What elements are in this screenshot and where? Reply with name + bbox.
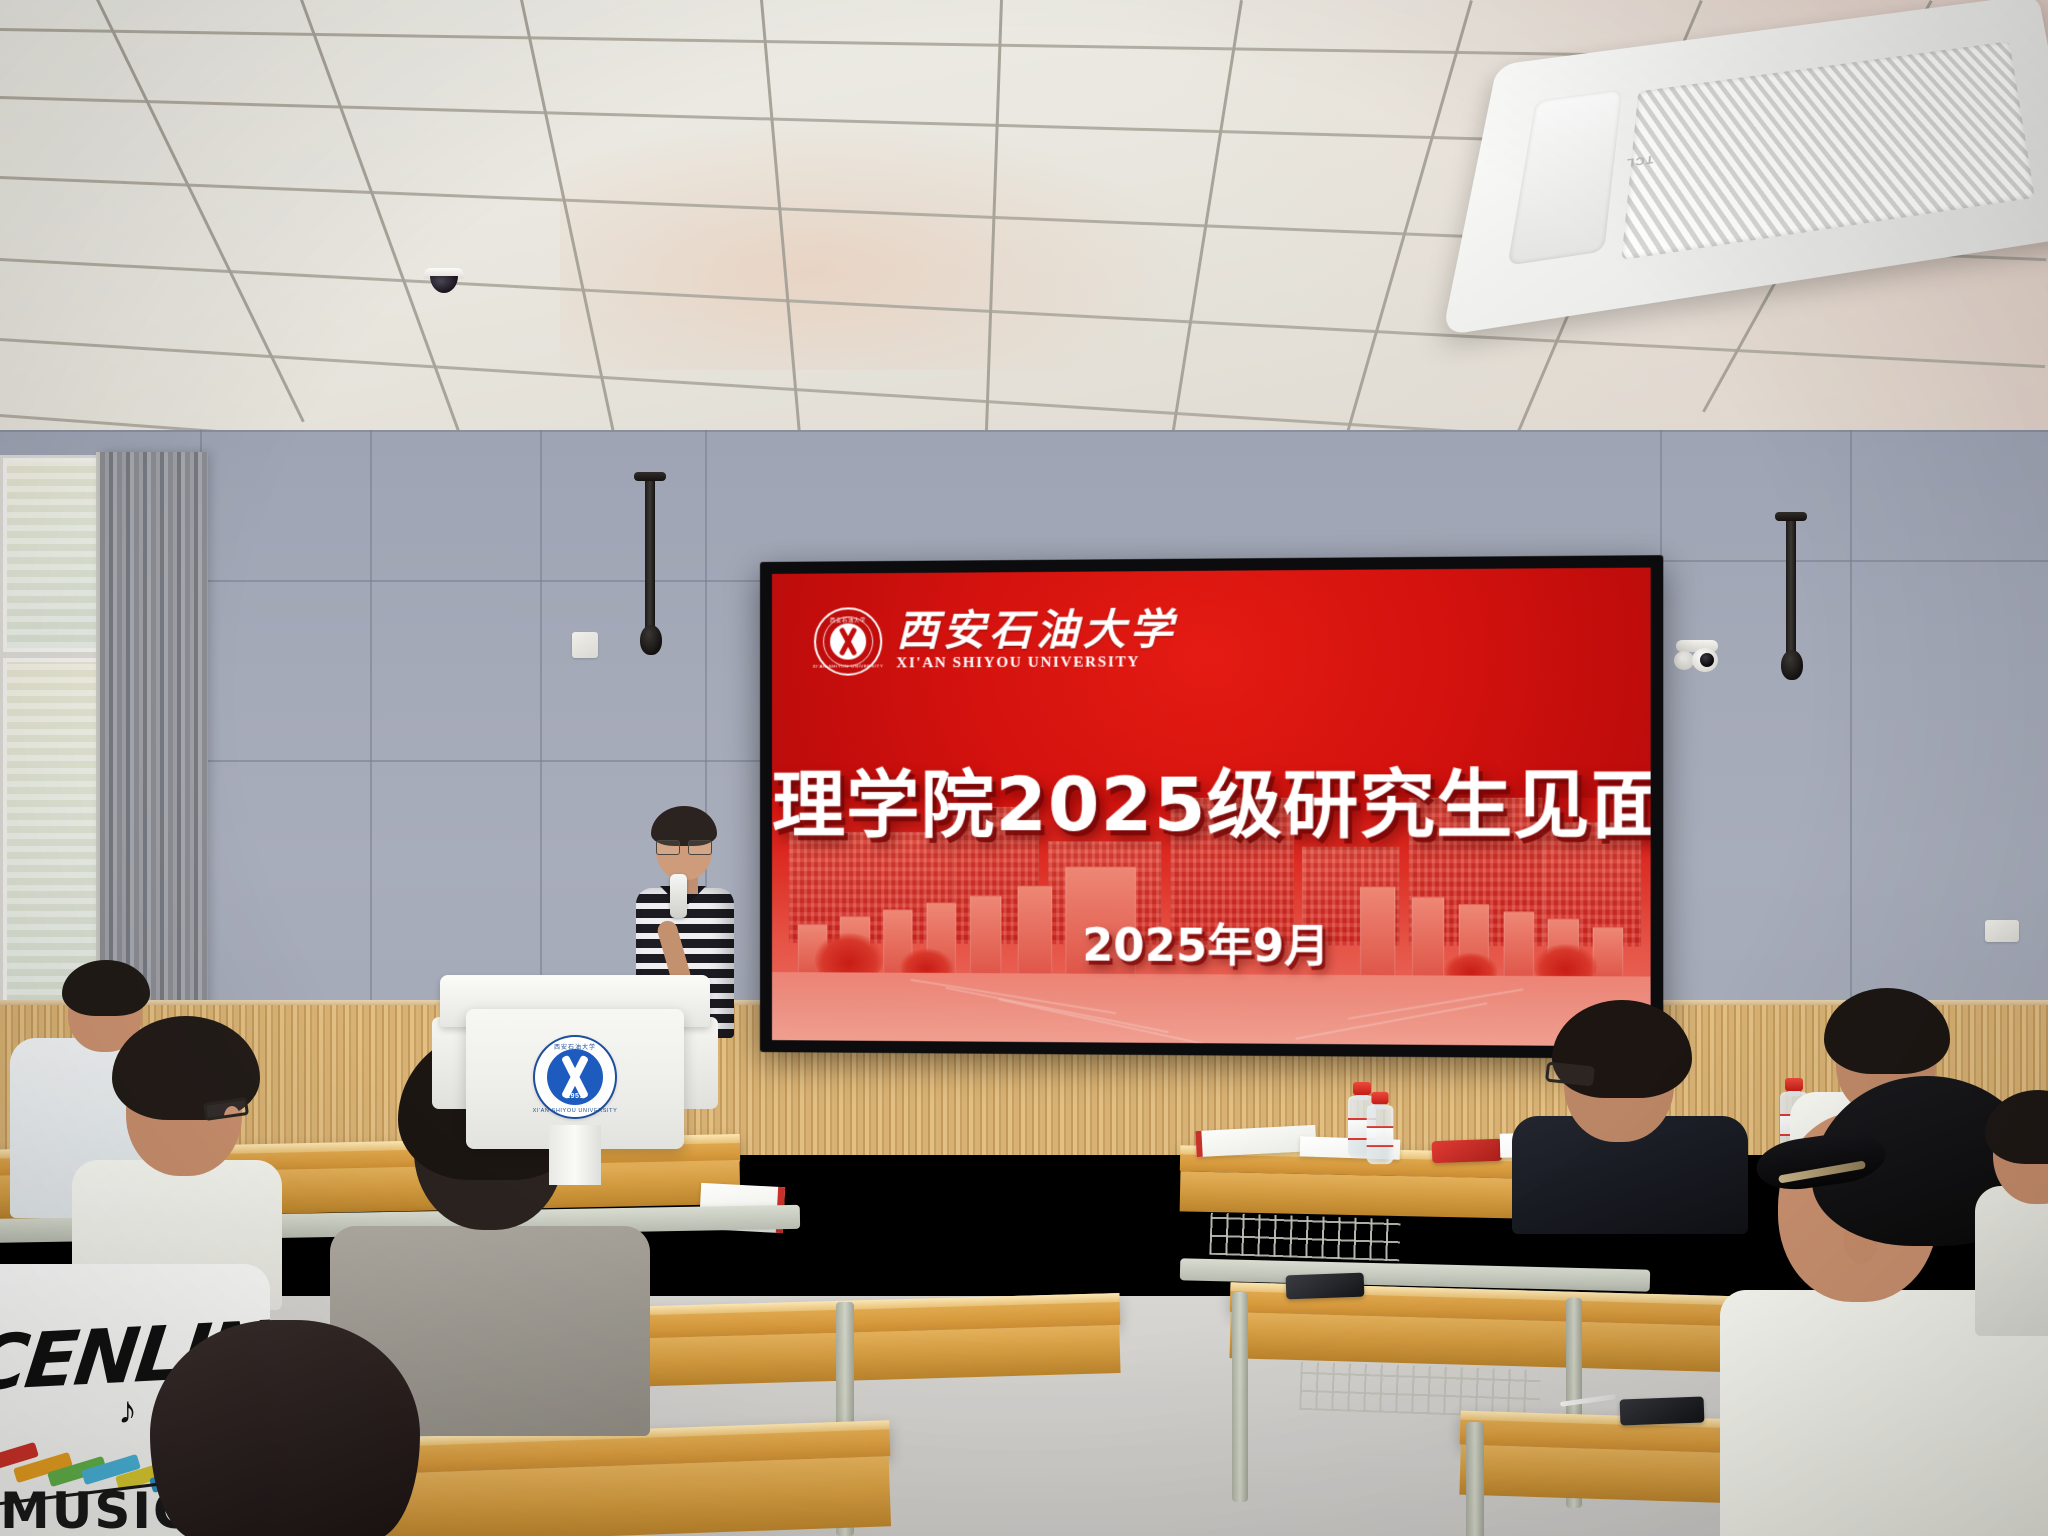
wall-panel-seam: [1850, 430, 1852, 1010]
attendee-body: [1975, 1186, 2048, 1336]
camera-lens: [1700, 653, 1714, 667]
slide-university-logo: 西安石油大学 XI'AN SHIYOU UNIVERSITY 西安石油大学 XI…: [814, 605, 1177, 675]
desk-leg: [1232, 1292, 1248, 1502]
ceiling-runner: [96, 0, 305, 422]
slide-plaza-marking: [911, 979, 1117, 1015]
slide-plaza-marking: [1295, 1002, 1487, 1039]
smartphone[interactable]: [1432, 1139, 1503, 1163]
ceiling-glow: [560, 120, 1180, 370]
podium-seal-disc: 1951: [547, 1049, 603, 1105]
slide-date: 2025年9月: [772, 908, 1651, 977]
attendee-hair: [150, 1320, 420, 1536]
smartphone[interactable]: [1286, 1273, 1365, 1300]
attendee-dark-jacket: [1512, 1000, 1752, 1230]
window-glass: [7, 662, 99, 1008]
microphone-icon[interactable]: [670, 874, 687, 918]
wall-outlet-plate[interactable]: [1985, 920, 2019, 942]
slide-title: 理学院2025级研究生见面会: [772, 744, 1651, 853]
led-display-bezel: 西安石油大学 XI'AN SHIYOU UNIVERSITY 西安石油大学 XI…: [760, 555, 1663, 1059]
seal-inner-disc: [830, 623, 866, 659]
attendee-hair: [62, 960, 150, 1016]
bottle-body: [1367, 1105, 1394, 1164]
podium-seal-year: 1951: [566, 1093, 584, 1100]
ceiling: TCL: [0, 0, 2048, 470]
wall-panel-seam: [0, 430, 2048, 432]
attendee-hair: [1985, 1090, 2048, 1164]
wall-outlet-plate[interactable]: [572, 632, 598, 658]
wall-panel-seam: [540, 430, 542, 1010]
wall-panel-seam: [370, 430, 372, 1010]
security-camera-icon: [1672, 640, 1728, 674]
dome-camera-icon: [424, 268, 464, 294]
mic-capsule: [640, 625, 662, 655]
mic-ceiling-cap: [1775, 512, 1807, 521]
desk-leg: [1466, 1422, 1484, 1536]
slide-plaza-marking: [1348, 989, 1524, 1020]
dome-lens: [430, 276, 458, 293]
slide-logo-name-en: XI'AN SHIYOU UNIVERSITY: [896, 655, 1176, 671]
lectern: 西安石油大学 1951 XI'AN SHIYOU UNIVERSITY: [440, 975, 710, 1175]
attendee-long-hair: [150, 1320, 430, 1536]
water-bottle[interactable]: [1367, 1092, 1394, 1164]
glasses-icon: [656, 840, 712, 853]
desk-basket: [1209, 1213, 1400, 1262]
bottle-cap: [1371, 1092, 1388, 1104]
window-upper: [0, 455, 106, 655]
mic-capsule: [1781, 650, 1803, 680]
attendee-right-edge: [1975, 1090, 2048, 1330]
slide-logo-name-cn: 西安石油大学: [896, 609, 1176, 653]
desk-basket: [1299, 1362, 1541, 1418]
presentation-slide[interactable]: 西安石油大学 XI'AN SHIYOU UNIVERSITY 西安石油大学 XI…: [772, 568, 1651, 1047]
window-glass: [7, 462, 99, 648]
glasses-icon: [1545, 1062, 1595, 1087]
ceiling-runner: [300, 0, 464, 442]
lectern-column: [549, 1125, 601, 1185]
music-note-icon: ♪: [118, 1392, 137, 1430]
smartphone[interactable]: [1620, 1397, 1705, 1426]
notebook-spine: [1195, 1131, 1202, 1157]
wall-panel-seam: [1660, 560, 2048, 562]
university-seal-icon: 西安石油大学 XI'AN SHIYOU UNIVERSITY: [814, 607, 882, 676]
podium-seal-text-en: XI'AN SHIYOU UNIVERSITY: [533, 1108, 618, 1114]
university-seal-icon: 西安石油大学 1951 XI'AN SHIYOU UNIVERSITY: [533, 1035, 617, 1119]
bottle-label: [1367, 1126, 1394, 1147]
mic-ceiling-cap: [634, 472, 666, 481]
lecture-hall-scene: TCL: [0, 0, 2048, 1536]
seal-ring-text-en: XI'AN SHIYOU UNIVERSITY: [813, 663, 884, 668]
camera-side-module: [1674, 651, 1694, 670]
